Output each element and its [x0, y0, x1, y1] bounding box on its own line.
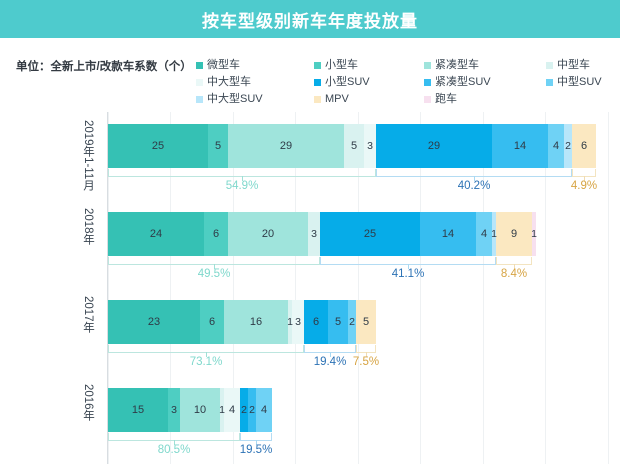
bar-segment[interactable]: 2: [240, 388, 248, 432]
legend-item-label: MPV: [325, 94, 349, 105]
chart-legend: 微型车小型车紧凑型车中型车中大型车小型SUV紧凑型SUV中型SUV中大型SUVM…: [196, 57, 616, 108]
chart-row: 2017年2361613652573.1%19.4%7.5%: [108, 288, 608, 376]
legend-swatch-icon: [424, 62, 431, 69]
legend-item[interactable]: 紧凑型SUV: [424, 77, 546, 88]
legend-swatch-icon: [314, 96, 321, 103]
bar-segment[interactable]: 3: [292, 300, 304, 344]
bar-segment[interactable]: 29: [376, 124, 492, 168]
group-percent-label: 4.9%: [571, 180, 597, 192]
stacked-bar: 1531014224: [108, 388, 272, 432]
group-percent-label: 41.1%: [392, 268, 425, 280]
bar-segment[interactable]: 4: [224, 388, 240, 432]
bar-segment[interactable]: 10: [180, 388, 220, 432]
legend-swatch-icon: [196, 79, 203, 86]
bar-segment-value: 24: [150, 228, 162, 240]
legend-item-label: 紧凑型车: [435, 60, 479, 71]
bar-segment[interactable]: 4: [476, 212, 492, 256]
legend-swatch-icon: [424, 79, 431, 86]
legend-item[interactable]: 紧凑型车: [424, 60, 546, 71]
stacked-bar: 25529532914426: [108, 124, 596, 168]
legend-swatch-icon: [314, 79, 321, 86]
legend-item-label: 中大型SUV: [207, 94, 263, 105]
legend-item-label: 小型车: [325, 60, 358, 71]
bar-segment-value: 1: [219, 404, 225, 416]
bar-segment[interactable]: 5: [328, 300, 348, 344]
bar-segment[interactable]: 6: [200, 300, 224, 344]
bar-segment-value: 9: [511, 228, 517, 240]
legend-item-label: 中型SUV: [557, 77, 602, 88]
stacked-bar: 24620325144191: [108, 212, 536, 256]
bar-segment-value: 5: [363, 316, 369, 328]
legend-item[interactable]: 微型车: [196, 60, 314, 71]
chart-row: 2019年1-11月2552953291442654.9%40.2%4.9%: [108, 112, 608, 200]
bar-segment-value: 1: [491, 228, 497, 240]
legend-item[interactable]: 中型车: [546, 60, 620, 71]
group-percent-label: 73.1%: [190, 356, 223, 368]
group-percent-label: 19.5%: [240, 444, 273, 456]
bar-segment-value: 6: [581, 140, 587, 152]
bar-segment-value: 4: [229, 404, 235, 416]
bar-segment[interactable]: 2: [248, 388, 256, 432]
bar-segment-value: 1: [287, 316, 293, 328]
bar-segment-value: 2: [349, 316, 355, 328]
bar-segment[interactable]: 23: [108, 300, 200, 344]
legend-item-label: 中型车: [557, 60, 590, 71]
bar-segment-value: 4: [481, 228, 487, 240]
bar-segment[interactable]: 14: [420, 212, 476, 256]
bar-segment-value: 3: [171, 404, 177, 416]
bar-segment[interactable]: 25: [108, 124, 208, 168]
bar-segment-value: 1: [531, 228, 537, 240]
bar-segment-value: 6: [209, 316, 215, 328]
legend-item[interactable]: MPV: [314, 94, 424, 105]
legend-item[interactable]: 中型SUV: [546, 77, 620, 88]
legend-swatch-icon: [196, 96, 203, 103]
legend-swatch-icon: [546, 62, 553, 69]
bar-segment[interactable]: 3: [168, 388, 180, 432]
bar-segment[interactable]: 6: [204, 212, 228, 256]
legend-swatch-icon: [314, 62, 321, 69]
bar-segment-value: 2: [565, 140, 571, 152]
legend-item-label: 小型SUV: [325, 77, 370, 88]
bar-segment[interactable]: 6: [304, 300, 328, 344]
bar-segment-value: 29: [280, 140, 292, 152]
legend-item[interactable]: 小型车: [314, 60, 424, 71]
y-axis-label: 2019年1-11月: [80, 120, 96, 172]
bar-segment-value: 3: [295, 316, 301, 328]
bar-segment-value: 5: [215, 140, 221, 152]
group-percent-label: 49.5%: [198, 268, 231, 280]
chart-row: 2016年153101422480.5%19.5%: [108, 376, 608, 464]
legend-swatch-icon: [196, 62, 203, 69]
legend-item-label: 跑车: [435, 94, 457, 105]
bar-segment-value: 29: [428, 140, 440, 152]
group-percent-label: 40.2%: [458, 180, 491, 192]
group-percent-label: 54.9%: [226, 180, 259, 192]
bar-segment[interactable]: 9: [496, 212, 532, 256]
bar-segment[interactable]: 4: [548, 124, 564, 168]
bar-segment[interactable]: 29: [228, 124, 344, 168]
bar-segment-value: 2: [249, 404, 255, 416]
legend-item[interactable]: 中大型车: [196, 77, 314, 88]
bar-segment[interactable]: 5: [356, 300, 376, 344]
bar-segment[interactable]: 24: [108, 212, 204, 256]
chart-row: 2018年2462032514419149.5%41.1%8.4%: [108, 200, 608, 288]
title-bar: 按车型级别新车年度投放量: [0, 0, 620, 38]
group-percent-label: 8.4%: [501, 268, 527, 280]
bar-segment[interactable]: 2: [564, 124, 572, 168]
bar-segment[interactable]: 20: [228, 212, 308, 256]
bar-segment-value: 25: [364, 228, 376, 240]
legend-item[interactable]: 跑车: [424, 94, 546, 105]
legend-item[interactable]: 中大型SUV: [196, 94, 314, 105]
bar-segment-value: 20: [262, 228, 274, 240]
y-axis-label: 2018年: [80, 208, 96, 260]
bar-segment[interactable]: 4: [256, 388, 272, 432]
bar-segment-value: 15: [132, 404, 144, 416]
bar-segment[interactable]: 3: [308, 212, 320, 256]
y-axis-label: 2017年: [80, 296, 96, 348]
bar-segment-value: 5: [335, 316, 341, 328]
bar-segment-value: 3: [367, 140, 373, 152]
bar-segment-value: 23: [148, 316, 160, 328]
bar-segment[interactable]: 1: [532, 212, 536, 256]
bar-segment[interactable]: 6: [572, 124, 596, 168]
legend-item-label: 微型车: [207, 60, 240, 71]
group-percent-label: 19.4%: [314, 356, 347, 368]
bar-segment-value: 4: [261, 404, 267, 416]
legend-item-label: 紧凑型SUV: [435, 77, 491, 88]
page-title: 按车型级别新车年度投放量: [202, 7, 418, 32]
bar-segment-value: 14: [514, 140, 526, 152]
bar-segment[interactable]: 5: [344, 124, 364, 168]
bar-segment-value: 6: [313, 316, 319, 328]
unit-label: 单位：全新上市/改款车系数（个）: [16, 58, 192, 74]
bar-segment[interactable]: 15: [108, 388, 168, 432]
bar-segment-value: 4: [553, 140, 559, 152]
bar-segment-value: 6: [213, 228, 219, 240]
chart-plot-area: 2019年1-11月2552953291442654.9%40.2%4.9%20…: [108, 112, 608, 464]
legend-item-label: 中大型车: [207, 77, 251, 88]
legend-item[interactable]: 小型SUV: [314, 77, 424, 88]
bar-segment[interactable]: 3: [364, 124, 376, 168]
bar-segment-value: 16: [250, 316, 262, 328]
legend-swatch-icon: [424, 96, 431, 103]
group-percent-label: 7.5%: [353, 356, 379, 368]
x-gridline: [608, 112, 609, 464]
bar-segment-value: 10: [194, 404, 206, 416]
bar-segment[interactable]: 2: [348, 300, 356, 344]
group-percent-label: 80.5%: [158, 444, 191, 456]
y-axis-label: 2016年: [80, 384, 96, 436]
bar-segment-value: 2: [241, 404, 247, 416]
legend-swatch-icon: [546, 79, 553, 86]
bar-segment[interactable]: 14: [492, 124, 548, 168]
bar-segment-value: 25: [152, 140, 164, 152]
stacked-bar: 23616136525: [108, 300, 376, 344]
bar-segment[interactable]: 16: [224, 300, 288, 344]
bar-segment-value: 5: [351, 140, 357, 152]
bar-segment[interactable]: 25: [320, 212, 420, 256]
bar-segment-value: 3: [311, 228, 317, 240]
bar-segment[interactable]: 5: [208, 124, 228, 168]
bar-segment-value: 14: [442, 228, 454, 240]
